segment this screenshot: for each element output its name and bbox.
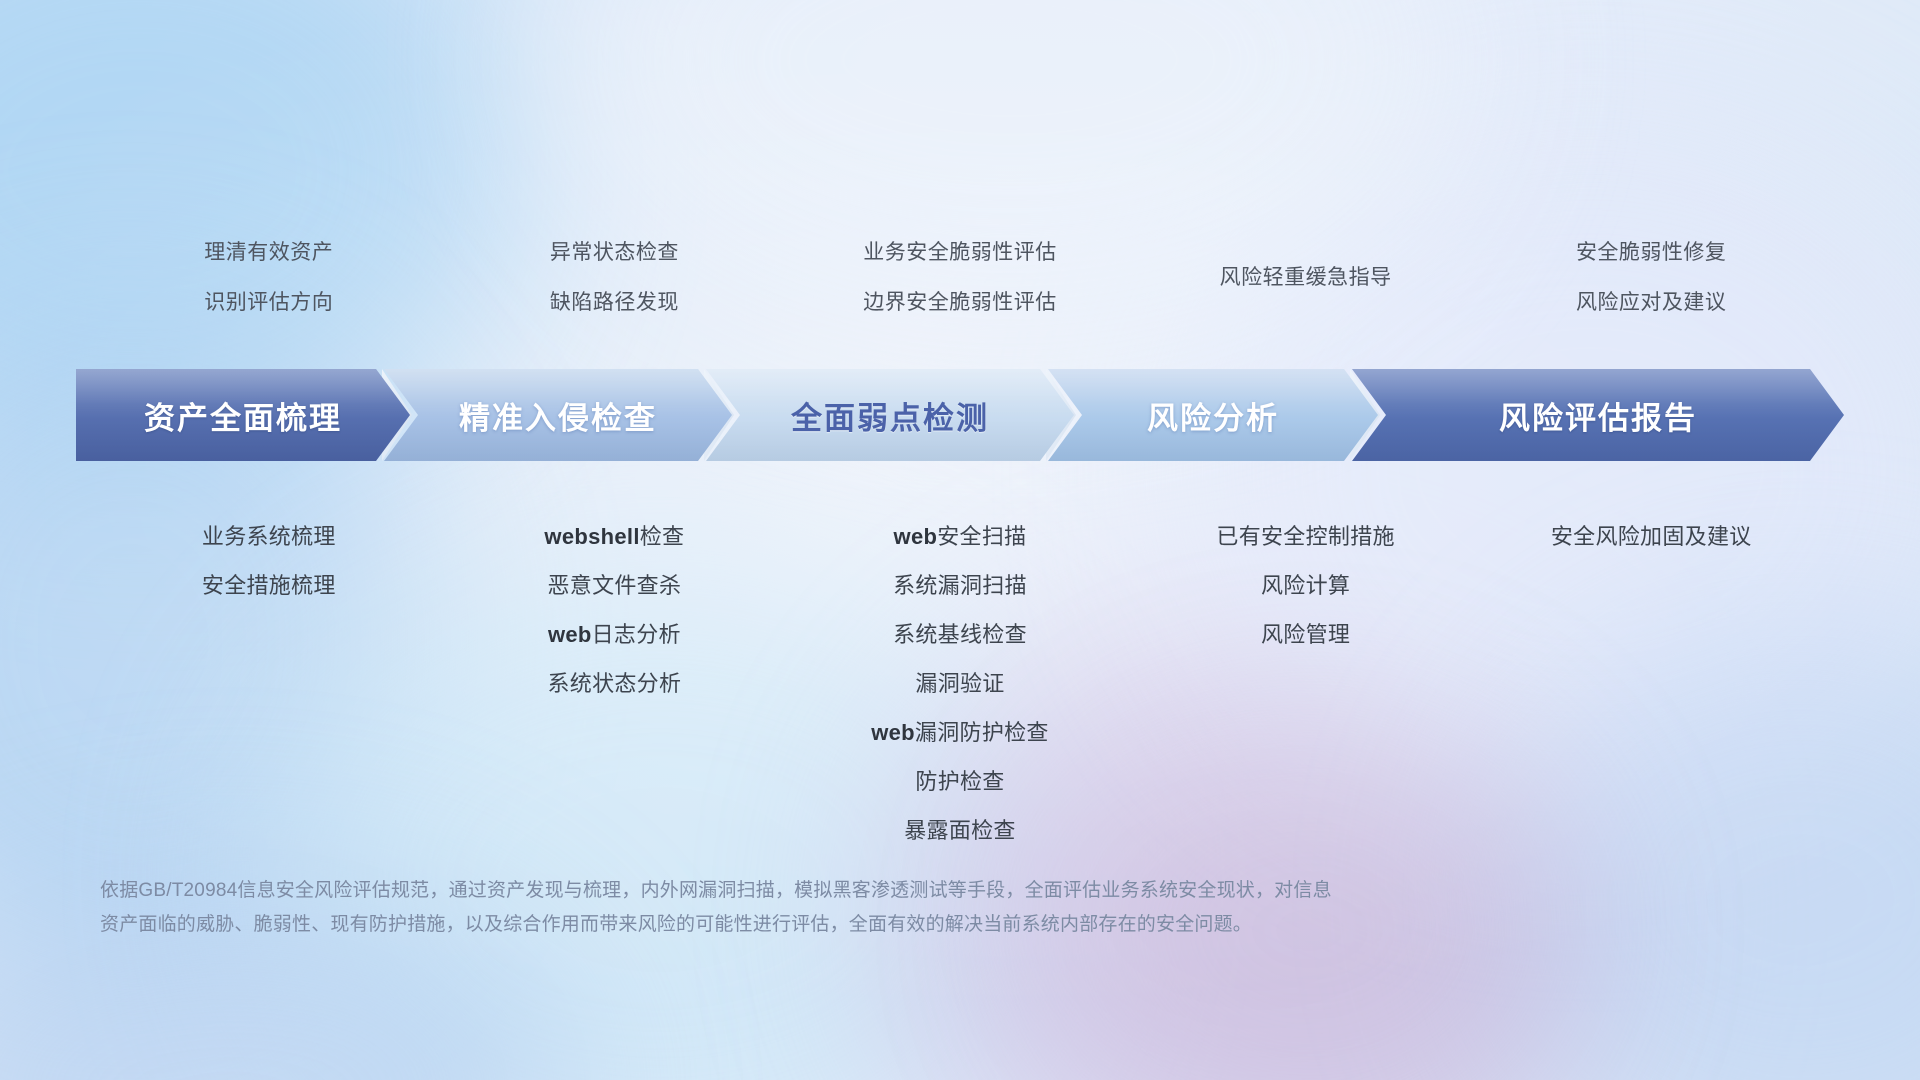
top-notes-column-5: 安全脆弱性修复 风险应对及建议 — [1478, 228, 1824, 328]
process-stage-label: 风险分析 — [1147, 393, 1279, 438]
top-notes-column-2: 异常状态检查 缺陷路径发现 — [442, 228, 788, 328]
list-item-suffix: 安全扫描 — [937, 524, 1026, 549]
process-stage-label: 精准入侵检查 — [459, 393, 657, 438]
top-note: 识别评估方向 — [204, 278, 333, 328]
bottom-items-column-2: webshell检查 恶意文件查杀 web日志分析 系统状态分析 — [442, 512, 788, 708]
list-item: 风险管理 — [1261, 610, 1350, 659]
list-item: 恶意文件查杀 — [547, 561, 681, 610]
top-note: 缺陷路径发现 — [550, 278, 679, 328]
process-stage-1[interactable]: 资产全面梳理 — [76, 369, 410, 461]
top-note: 风险应对及建议 — [1576, 278, 1727, 328]
list-item: 安全风险加固及建议 — [1551, 512, 1752, 561]
footer-line-2: 资产面临的威胁、脆弱性、现有防护措施，以及综合作用而带来风险的可能性进行评估，全… — [100, 908, 1660, 942]
process-stage-2[interactable]: 精准入侵检查 — [384, 369, 732, 461]
top-note: 理清有效资产 — [204, 228, 333, 278]
footer-description: 依据GB/T20984信息安全风险评估规范，通过资产发现与梳理，内外网漏洞扫描，… — [100, 874, 1660, 942]
top-note: 边界安全脆弱性评估 — [863, 278, 1057, 328]
bottom-items-column-4: 已有安全控制措施 风险计算 风险管理 — [1133, 512, 1479, 659]
slide-canvas: 理清有效资产 识别评估方向 异常状态检查 缺陷路径发现 业务安全脆弱性评估 边界… — [0, 0, 1920, 1080]
bottom-items-column-5: 安全风险加固及建议 — [1478, 512, 1824, 561]
list-item: 已有安全控制措施 — [1216, 512, 1394, 561]
process-stage-label: 全面弱点检测 — [791, 393, 989, 438]
top-notes-column-4: 风险轻重缓急指导 — [1133, 228, 1479, 303]
list-item-suffix: 漏洞防护检查 — [915, 720, 1049, 745]
process-stage-3[interactable]: 全面弱点检测 — [706, 369, 1074, 461]
list-item: web日志分析 — [548, 610, 681, 659]
top-note: 异常状态检查 — [550, 228, 679, 278]
process-stage-4[interactable]: 风险分析 — [1048, 369, 1378, 461]
top-note: 业务安全脆弱性评估 — [863, 228, 1057, 278]
process-arrow-band: 资产全面梳理 精准入侵检查 全面弱点检测 风险分析 风险评估报告 — [76, 369, 1844, 461]
list-item: 安全措施梳理 — [202, 561, 336, 610]
list-item: 业务系统梳理 — [202, 512, 336, 561]
top-note: 安全脆弱性修复 — [1576, 228, 1727, 278]
bottom-items-column-3: web安全扫描 系统漏洞扫描 系统基线检查 漏洞验证 web漏洞防护检查 防护检… — [787, 512, 1133, 855]
list-item: webshell检查 — [544, 512, 684, 561]
top-notes-row: 理清有效资产 识别评估方向 异常状态检查 缺陷路径发现 业务安全脆弱性评估 边界… — [96, 228, 1824, 328]
list-item: web漏洞防护检查 — [871, 708, 1049, 757]
list-item-suffix: 检查 — [640, 524, 685, 549]
footer-line-1: 依据GB/T20984信息安全风险评估规范，通过资产发现与梳理，内外网漏洞扫描，… — [100, 874, 1660, 908]
bottom-items-row: 业务系统梳理 安全措施梳理 webshell检查 恶意文件查杀 web日志分析 … — [96, 512, 1824, 855]
list-item: 暴露面检查 — [904, 806, 1016, 855]
top-notes-column-3: 业务安全脆弱性评估 边界安全脆弱性评估 — [787, 228, 1133, 328]
list-item: 系统漏洞扫描 — [893, 561, 1027, 610]
list-item-suffix: 日志分析 — [592, 622, 681, 647]
list-item: 系统基线检查 — [893, 610, 1027, 659]
list-item: web安全扫描 — [894, 512, 1027, 561]
list-item: 风险计算 — [1261, 561, 1350, 610]
list-item: 防护检查 — [915, 757, 1004, 806]
process-stage-label: 资产全面梳理 — [144, 393, 342, 438]
process-stage-5[interactable]: 风险评估报告 — [1352, 369, 1844, 461]
list-item: 系统状态分析 — [547, 659, 681, 708]
process-stage-label: 风险评估报告 — [1499, 393, 1697, 438]
bottom-items-column-1: 业务系统梳理 安全措施梳理 — [96, 512, 442, 610]
list-item: 漏洞验证 — [915, 659, 1004, 708]
top-note: 风险轻重缓急指导 — [1220, 253, 1392, 303]
top-notes-column-1: 理清有效资产 识别评估方向 — [96, 228, 442, 328]
